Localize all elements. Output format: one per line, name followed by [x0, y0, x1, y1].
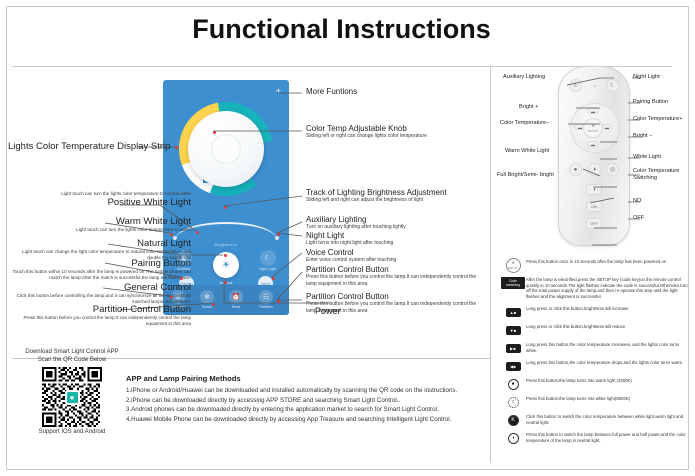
hotspot-power: [224, 281, 227, 284]
callout-title: Natural Light: [20, 238, 191, 249]
setup-circle-icon: ◕SETUP: [500, 258, 526, 272]
knob-face[interactable]: [188, 111, 264, 187]
callout-sub: Turn on auxiliary lighting after touchin…: [306, 224, 486, 231]
hotspot-partition-2: [277, 300, 280, 303]
callout-sub: Light turns into night light after touch…: [306, 240, 486, 247]
remote-label-full-half: Full Bright/Semi- bright: [497, 172, 554, 178]
legend-row: ○ Press this button,the lamp turns into …: [500, 395, 690, 409]
legend-row: ◕SETUP Press this button once in 10 seco…: [500, 258, 690, 272]
hotspot-voice: [272, 277, 275, 280]
on-button[interactable]: ON: [586, 201, 602, 212]
callout-title: Partition Control Button: [306, 265, 486, 274]
app-partition-button[interactable]: ☷ Partition: [259, 290, 273, 309]
app-night-label: Night Light: [259, 267, 276, 271]
callout-title: Partition Control Button: [14, 304, 191, 315]
callout-voice-control: Voice Control Enter voice control system…: [306, 248, 486, 264]
callout-title: More Funtions: [306, 87, 484, 96]
instruction-sheet: Functional Instructions + Brightness ◉ A…: [0, 0, 695, 476]
legend-list: ◕SETUP Press this button once in 10 seco…: [500, 258, 690, 449]
callout-display-strip: Lights Color Temperature Display Strip: [8, 141, 138, 152]
remote-label-ct-minus: Color Temperature−: [500, 120, 550, 126]
callout-title: Pairing Button: [8, 258, 191, 269]
remote-label-ct-switch: Color Temperature Switching: [633, 168, 691, 182]
callout-title: Voice Control: [306, 248, 486, 257]
bright-plus-icon[interactable]: ▬: [587, 108, 599, 114]
pairing-item: 3.Android phones can be downloaded direc…: [126, 405, 486, 415]
callout-general-control: General Control Click this button before…: [12, 282, 191, 305]
remote-label-aux: Auxiliary Lighting: [503, 74, 545, 80]
app-scene-button[interactable]: ❄ Scene: [200, 290, 214, 309]
knob-core: [211, 134, 241, 164]
pairing-item: 4.Huawei Mobile Phone can be downloaded …: [126, 415, 486, 425]
callout-title: Night Light: [306, 231, 486, 240]
legend-row: K Click this button to switch the color …: [500, 413, 690, 427]
app-partition-label: Partition: [259, 305, 272, 309]
pairing-item: 2.iPhone can be downloaded directly by a…: [126, 396, 486, 406]
white-light-icon[interactable]: ◎: [606, 163, 619, 176]
ct-switch-circle-icon: K: [500, 413, 526, 427]
ir-indicator-icon: [594, 85, 596, 87]
callout-title: Color Temp Adjustable Knob: [306, 124, 486, 133]
callout-sub: Press this button before you control the…: [14, 315, 191, 327]
app-timer-button[interactable]: ⏰ Timer: [229, 290, 243, 309]
moon-icon: ☾: [260, 250, 276, 266]
callout-color-temp-knob: Color Temp Adjustable Knob Sliding left …: [306, 124, 486, 140]
callout-sub: Press this button before you control the…: [306, 274, 486, 287]
legend-row: ◀■ Long press this button,the color temp…: [500, 359, 690, 373]
scene-icon: ❄: [200, 290, 214, 304]
callout-title: Lights Color Temperature Display Strip: [8, 141, 138, 152]
app-scene-label: Scene: [202, 305, 212, 309]
remote-label-warm-white: Warm White Light: [505, 148, 549, 154]
bright-minus-icon[interactable]: ▬: [587, 141, 599, 147]
callout-title: Partition Control Button: [306, 292, 486, 301]
legend-text: Press this button,the lamp turns into wh…: [526, 395, 630, 402]
setup-icon-label: SETUP: [508, 266, 518, 270]
bright-down-chip-icon: ▼■: [500, 323, 526, 337]
hotspot-pairing: [180, 277, 183, 280]
remote-control-body: ☉ ☾ ▬ ▬ ▬ ▬ ◕ SETUP ● ◖ ◎ ◑ ON OFF: [558, 66, 630, 246]
hotspot-aux: [170, 233, 173, 236]
app-timer-label: Timer: [231, 305, 240, 309]
legend-text: Long press or click this button,brightne…: [526, 323, 625, 330]
legend-text: Long press or click this button,brightne…: [526, 305, 628, 312]
legend-row: ▲■ Long press or click this button,brigh…: [500, 305, 690, 319]
callout-pairing-button: Pairing Button Touch this button within …: [8, 258, 191, 281]
hotspot-display-strip: [175, 146, 178, 149]
legend-text: After the lamp is electrified,press the …: [526, 276, 690, 299]
code-matching-chip: Code matching: [500, 276, 526, 290]
warm-white-icon[interactable]: ●: [569, 163, 582, 176]
callout-brightness-track: Track of Lighting Brightness Adjustment …: [306, 188, 488, 204]
legend-text: Click this button to switch the color te…: [526, 413, 690, 425]
callout-partition-left: Partition Control Button Press this butt…: [14, 304, 191, 327]
ct-down-chip-icon: ◀■: [500, 359, 526, 373]
callout-positive-white: Light touch can turn the lights color te…: [6, 191, 191, 208]
white-light-circle-icon: ○: [500, 395, 526, 409]
remote-label-off: OFF: [633, 215, 644, 221]
qr-code-image: ●: [42, 367, 102, 427]
color-temp-knob[interactable]: [179, 102, 273, 196]
legend-row: ● Press this button,the lamp turns into …: [500, 377, 690, 391]
legend-text: Press this button once in 10 seconds aft…: [526, 258, 666, 265]
qr-heading-line1: Download Smart Light Control APP: [14, 348, 130, 356]
qr-logo-icon: ●: [65, 390, 80, 405]
hotspot-knob: [213, 131, 216, 134]
remote-label-no: NO: [633, 198, 641, 204]
callout-auxiliary-lighting: Auxiliary Lighting Turn on auxiliary lig…: [306, 215, 486, 231]
on-label: ON: [591, 204, 597, 209]
pairing-methods-section: APP and Lamp Pairing Methods 1.iPhone or…: [126, 374, 486, 424]
off-button[interactable]: OFF: [586, 218, 602, 229]
callout-warm-white: Warm White Light Light touch can turn th…: [20, 216, 191, 233]
legend-row: ◑ Press this button to switch the lamp b…: [500, 431, 690, 445]
color-temp-switch-icon[interactable]: ◖: [588, 163, 601, 176]
legend-text: Long press this button,the color tempera…: [526, 341, 690, 353]
callout-title: General Control: [12, 282, 191, 293]
remote-label-bright-plus: Bright +: [519, 104, 538, 110]
off-label: OFF: [590, 221, 598, 226]
pairing-heading: APP and Lamp Pairing Methods: [126, 374, 486, 383]
callout-sub: Sliding left and right can adjust the br…: [306, 197, 488, 204]
setup-label: SETUP: [587, 129, 598, 133]
remote-label-pairing: Pairing Button: [633, 99, 668, 105]
callout-sub: Enter voice control system after touchin…: [306, 257, 486, 264]
title-divider: [12, 66, 672, 67]
page-title: Functional Instructions: [0, 14, 683, 45]
remote-label-ct-plus: Color Temperature+: [633, 116, 683, 122]
pairing-item: 1.iPhone or Android/Huawei can be downlo…: [126, 386, 486, 396]
callout-sub: Touch this button within 10 seconds afte…: [8, 269, 191, 281]
qr-footer: Support IOS and Android: [14, 429, 130, 435]
qr-section: Download Smart Light Control APP Scan th…: [14, 348, 130, 435]
power-label: Power: [315, 306, 341, 316]
callout-night-light: Night Light Light turns into night light…: [306, 231, 486, 247]
app-night-light-button[interactable]: ☾ Night Light: [259, 250, 276, 271]
legend-text: Long press this button,the color tempera…: [526, 359, 683, 366]
callout-title: Track of Lighting Brightness Adjustment: [306, 188, 488, 197]
aux-lighting-icon[interactable]: ☉: [569, 79, 582, 92]
night-light-icon[interactable]: ☾: [606, 79, 619, 92]
callout-sub: Light touch can turn the lights color te…: [20, 227, 191, 233]
qr-heading-line2: Scan the QR Code Below: [14, 356, 130, 364]
legend-row: ▼■ Long press or click this button,brigh…: [500, 323, 690, 337]
legend-text: Press this button to switch the lamp bet…: [526, 431, 690, 443]
legend-text: Press this button,the lamp turns into wa…: [526, 377, 632, 384]
timer-icon: ⏰: [229, 290, 243, 304]
warm-light-circle-icon: ●: [500, 377, 526, 391]
half-power-circle-icon: ◑: [500, 431, 526, 445]
hotspot-brightness: [224, 206, 227, 209]
callout-title: Auxiliary Lighting: [306, 215, 486, 224]
remote-label-bright-minus: Bright −: [633, 133, 652, 139]
partition-icon: ☷: [259, 290, 273, 304]
callout-sub: Sliding left or right can change lights …: [306, 133, 486, 140]
hotspot-positive-white: [196, 231, 199, 234]
more-functions-icon[interactable]: +: [276, 87, 281, 96]
remote-label-white: White Light: [633, 154, 661, 160]
legend-row: ▶■ Long press this button,the color temp…: [500, 341, 690, 355]
bright-up-chip-icon: ▲■: [500, 305, 526, 319]
callout-partition-right-1: Partition Control Button Press this butt…: [306, 265, 486, 287]
hotspot-night: [277, 233, 280, 236]
ct-up-chip-icon: ▶■: [500, 341, 526, 355]
brightness-max-dot: [275, 236, 279, 240]
hotspot-general: [170, 296, 173, 299]
callout-title: Positive White Light: [6, 197, 191, 208]
legend-row: Code matching After the lamp is electrif…: [500, 276, 690, 299]
hotspot-natural: [224, 254, 227, 257]
full-half-bright-icon[interactable]: ◑: [586, 184, 602, 195]
callout-title: Warm White Light: [20, 216, 191, 227]
vertical-divider: [490, 67, 491, 463]
setup-pairing-button[interactable]: ◕ SETUP: [583, 118, 603, 138]
remote-label-night: Night Light: [633, 74, 660, 80]
hotspot-partition-1: [212, 303, 215, 306]
code-matching-label: Code matching: [501, 277, 525, 289]
callout-more-functions: More Funtions: [306, 87, 484, 96]
